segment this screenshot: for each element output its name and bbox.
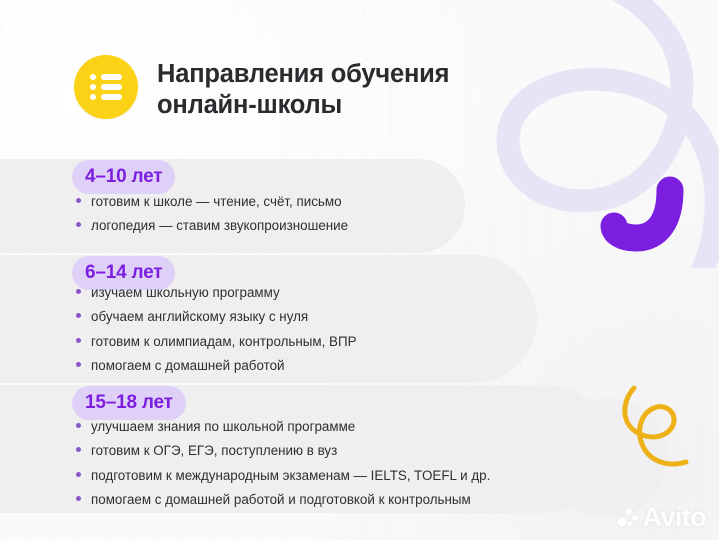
bullet-dot-icon: [76, 496, 81, 501]
bullet-dot-icon: [76, 362, 81, 367]
list-item-label: готовим к олимпиадам, контрольным, ВПР: [91, 335, 357, 348]
bullet-dot-icon: [76, 198, 81, 203]
bullet-dot-icon: [76, 313, 81, 318]
list-item: готовим к олимпиадам, контрольным, ВПР: [76, 335, 357, 359]
list-item-label: изучаем школьную программу: [91, 286, 280, 299]
lilac-swirl-decoration: [470, 0, 719, 268]
list-item: подготовим к международным экзаменам — I…: [76, 469, 490, 493]
list-item-label: обучаем английскому языку с нуля: [91, 310, 308, 323]
bullet-dot-icon: [76, 222, 81, 227]
list-item: готовим к школе — чтение, счёт, письмо: [76, 195, 348, 219]
avito-wordmark: Avito: [643, 504, 707, 531]
list-item-label: готовим к ОГЭ, ЕГЭ, поступлению в вуз: [91, 444, 337, 457]
yellow-swirl-decoration: [612, 382, 698, 478]
list-item-label: логопедия — ставим звукопроизношение: [91, 219, 348, 232]
list-item-label: улучшаем знания по школьной программе: [91, 420, 355, 433]
list-item: изучаем школьную программу: [76, 286, 357, 310]
bullet-dot-icon: [76, 472, 81, 477]
page-title: Направления обучения онлайн-школы: [157, 55, 527, 121]
avito-watermark: Avito: [617, 504, 707, 531]
avito-logo-icon: [617, 507, 639, 529]
list-item: логопедия — ставим звукопроизношение: [76, 219, 348, 232]
list-item-label: готовим к школе — чтение, счёт, письмо: [91, 195, 342, 208]
bullet-dot-icon: [76, 338, 81, 343]
poster-canvas: Направления обучения онлайн-школы 4–10 л…: [0, 0, 719, 540]
benefit-list-3: улучшаем знания по школьной программе го…: [76, 420, 490, 507]
age-badge-3: 15–18 лет: [72, 386, 186, 420]
bullet-dot-icon: [76, 447, 81, 452]
benefit-list-1: готовим к школе — чтение, счёт, письмо л…: [76, 195, 348, 233]
list-item-label: подготовим к международным экзаменам — I…: [91, 469, 490, 482]
benefit-list-2: изучаем школьную программу обучаем англи…: [76, 286, 357, 373]
purple-hook-decoration: [600, 176, 686, 254]
list-item: готовим к ОГЭ, ЕГЭ, поступлению в вуз: [76, 444, 490, 468]
list-item: улучшаем знания по школьной программе: [76, 420, 490, 444]
list-item: обучаем английскому языку с нуля: [76, 310, 357, 334]
bullet-dot-icon: [76, 423, 81, 428]
bullet-dot-icon: [76, 289, 81, 294]
list-item-label: помогаем с домашней работой и подготовко…: [91, 493, 471, 506]
list-item: помогаем с домашней работой и подготовко…: [76, 493, 490, 506]
bulleted-list-icon: [74, 55, 138, 119]
poster-header: Направления обучения онлайн-школы: [74, 55, 527, 121]
list-item: помогаем с домашней работой: [76, 359, 357, 372]
age-badge-1: 4–10 лет: [72, 160, 175, 194]
list-item-label: помогаем с домашней работой: [91, 359, 285, 372]
